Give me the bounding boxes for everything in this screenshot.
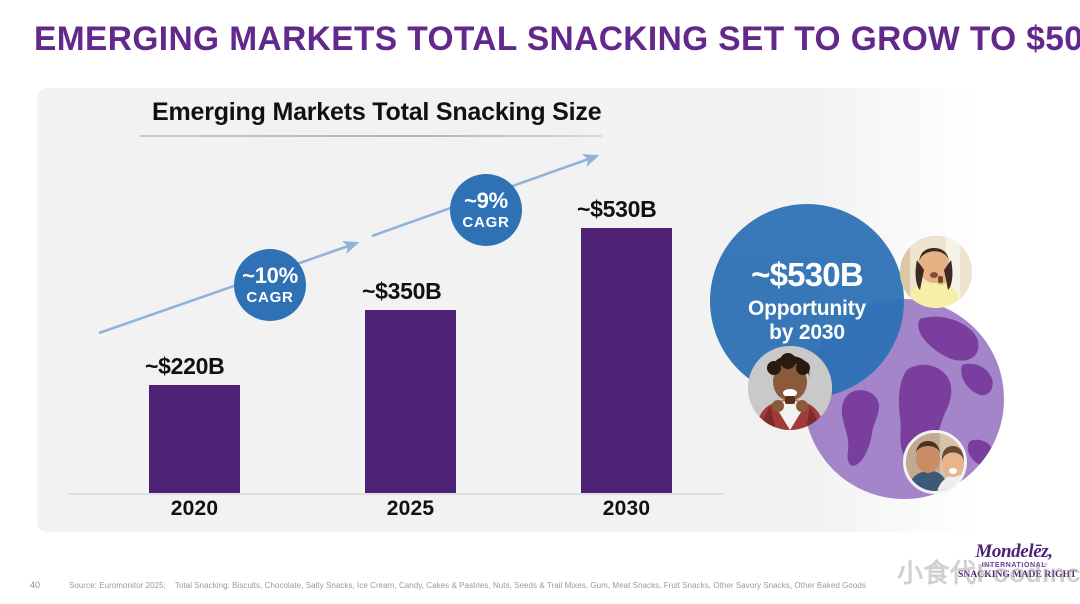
cagr-bubble-2025-2030: ~9% CAGR [450, 174, 522, 246]
x-axis-label-2030: 2030 [581, 497, 672, 521]
opportunity-caption-line1: Opportunity [748, 297, 866, 321]
brand-tagline: SNACKING MADE RIGHT [958, 570, 1070, 581]
bar-value-label-2020: ~$220B [145, 353, 224, 380]
x-axis-label-2020: 2020 [149, 497, 240, 521]
x-axis-label-2025: 2025 [365, 497, 456, 521]
cagr-label: CAGR [246, 290, 293, 305]
cagr-value: ~10% [242, 265, 298, 287]
source-note: Source: Euromonitor 2025;Total Snacking:… [69, 581, 866, 590]
bar-value-label-2025: ~$350B [362, 278, 441, 305]
brand-name: Mondelēz, [958, 542, 1070, 562]
mondelez-logo: Mondelēz, INTERNATIONAL SNACKING MADE RI… [958, 542, 1070, 584]
page-title: EMERGING MARKETS TOTAL SNACKING SET TO G… [34, 19, 1039, 59]
cagr-bubble-2020-2025: ~10% CAGR [234, 249, 306, 321]
photo-woman-eating-snack [900, 236, 972, 308]
opportunity-amount: ~$530B [751, 258, 863, 291]
source-label: Source: Euromonitor 2025; [69, 581, 166, 590]
brand-qualifier: INTERNATIONAL [958, 561, 1070, 570]
x-axis-line [68, 493, 724, 495]
page-number: 40 [30, 580, 40, 590]
cagr-value: ~9% [464, 190, 508, 212]
bar-value-label-2030: ~$530B [577, 196, 656, 223]
photo-man-eating-chocolate [748, 346, 832, 430]
bar-2030 [581, 228, 672, 493]
bar-2025 [365, 310, 456, 493]
opportunity-graphic: ~$530B Opportunity by 2030 [700, 196, 1020, 532]
bar-2020 [149, 385, 240, 493]
opportunity-caption-line2: by 2030 [748, 321, 866, 345]
opportunity-caption: Opportunity by 2030 [748, 297, 866, 344]
photo-father-and-daughter [903, 430, 967, 494]
source-detail: Total Snacking: Biscuits, Chocolate, Sal… [175, 581, 866, 590]
cagr-label: CAGR [462, 215, 509, 230]
